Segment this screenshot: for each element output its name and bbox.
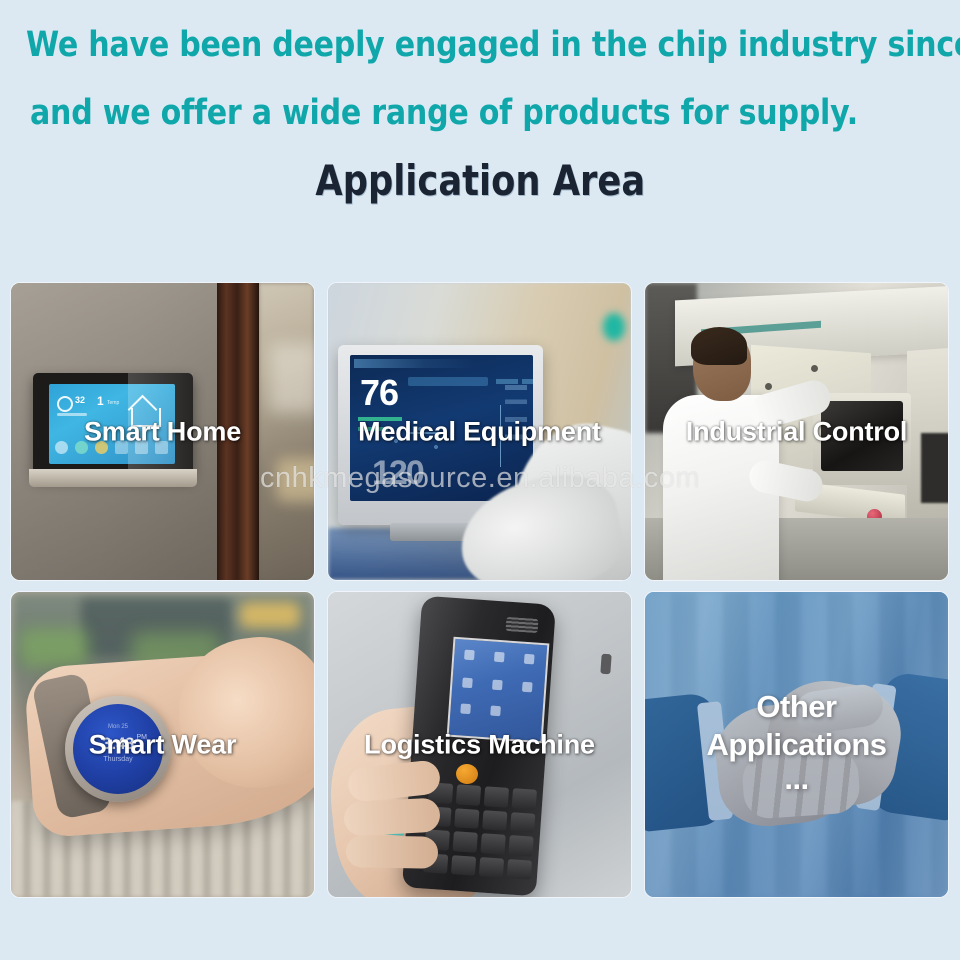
panel-badge: 32 <box>75 395 85 405</box>
vital-primary-value: 76 <box>360 375 398 411</box>
monitor-data-dots <box>362 423 452 457</box>
desktop-icon <box>490 706 501 717</box>
desktop-icon <box>460 703 471 714</box>
machine-bolt <box>765 383 772 390</box>
light-blur <box>276 458 314 502</box>
keypad-key <box>454 808 479 829</box>
keypad-key <box>508 835 533 856</box>
monitor-bar <box>522 379 533 384</box>
door-frame <box>217 283 259 580</box>
keypad-key <box>484 786 509 807</box>
keypad-key <box>510 812 535 833</box>
application-card-grid: 32 1 Temp Smart Home <box>11 283 949 897</box>
equipment-blur <box>603 313 625 341</box>
keypad-key <box>507 859 532 880</box>
watch-time: 3:43 <box>73 734 163 754</box>
card-smart-wear[interactable]: Mon 25 3:43 PM Thursday Smart Wear <box>11 592 314 897</box>
smart-home-panel: 32 1 Temp <box>33 373 193 477</box>
keypad-key <box>512 788 537 809</box>
keypad-key <box>451 855 476 876</box>
page-title: Application Area <box>0 155 960 207</box>
light-blur <box>269 343 314 413</box>
monitor-screen: 76 120 <box>350 355 533 501</box>
headline-line-1: We have been deeply engaged in the chip … <box>26 18 829 72</box>
card-logistics-machine[interactable]: Logistics Machine <box>328 592 631 897</box>
monitor-bar <box>408 377 488 386</box>
headline-block: We have been deeply engaged in the chip … <box>0 18 960 140</box>
smartwatch-face: Mon 25 3:43 PM Thursday <box>73 704 163 794</box>
finger <box>346 835 439 869</box>
desktop-icon <box>522 682 533 693</box>
card-label-other-applications: Other Applications ... <box>645 688 948 794</box>
card-industrial-control[interactable]: Industrial Control <box>645 283 948 580</box>
panel-temp-unit: Temp <box>107 400 119 406</box>
monitor-topbar <box>354 359 529 368</box>
other-label-line-3: ... <box>645 764 948 794</box>
keypad-key <box>456 784 481 805</box>
foliage-blur <box>19 628 89 668</box>
panel-divider <box>57 413 87 416</box>
technician-hair <box>691 327 747 365</box>
desktop-icon <box>492 680 503 691</box>
desktop-icon <box>464 650 475 661</box>
card-medical-equipment[interactable]: 76 120 Medical Equipment <box>328 283 631 580</box>
monitor-green-bar <box>358 417 402 421</box>
panel-temp: 1 <box>97 394 104 408</box>
keypad-key <box>453 831 478 852</box>
side-button <box>600 654 611 675</box>
app-icon <box>55 441 68 454</box>
watch-meridiem: PM <box>137 734 148 741</box>
card-smart-home[interactable]: 32 1 Temp Smart Home <box>11 283 314 580</box>
app-icon <box>95 441 108 454</box>
watch-bottom-text: Thursday <box>73 756 163 763</box>
room-background <box>259 283 314 580</box>
headline-line-2: and we offer a wide range of products fo… <box>30 86 830 140</box>
section-title-text: Application Area <box>315 155 645 207</box>
monitor-bar <box>496 379 518 384</box>
glass-reflection <box>128 373 193 477</box>
machine-bolt <box>811 365 818 372</box>
pda-keypad <box>419 778 542 884</box>
keypad-key <box>480 833 505 854</box>
light-blur <box>240 602 300 628</box>
card-other-applications[interactable]: Other Applications ... <box>645 592 948 897</box>
keypad-key <box>479 857 504 878</box>
desktop-icon <box>494 652 505 663</box>
desktop-icon <box>524 654 535 665</box>
desktop-icon <box>462 678 473 689</box>
page-root: We have been deeply engaged in the chip … <box>0 0 960 960</box>
monitor-divider <box>500 405 501 467</box>
keypad-key <box>482 810 507 831</box>
sun-icon <box>57 396 73 412</box>
watch-top-text: Mon 25 <box>73 724 163 730</box>
app-icon <box>75 441 88 454</box>
finger <box>343 798 441 837</box>
panel-base <box>29 469 197 487</box>
other-label-line-1: Other <box>645 688 948 726</box>
crt-monitor-screen <box>821 401 903 471</box>
vital-secondary-value: 120 <box>372 454 423 493</box>
pda-screen <box>447 637 550 743</box>
machine-opening <box>921 433 948 503</box>
other-label-line-2: Applications <box>645 726 948 764</box>
monitor-icon-column <box>505 385 527 465</box>
app-icon <box>115 441 128 454</box>
speaker-grill <box>506 617 539 633</box>
